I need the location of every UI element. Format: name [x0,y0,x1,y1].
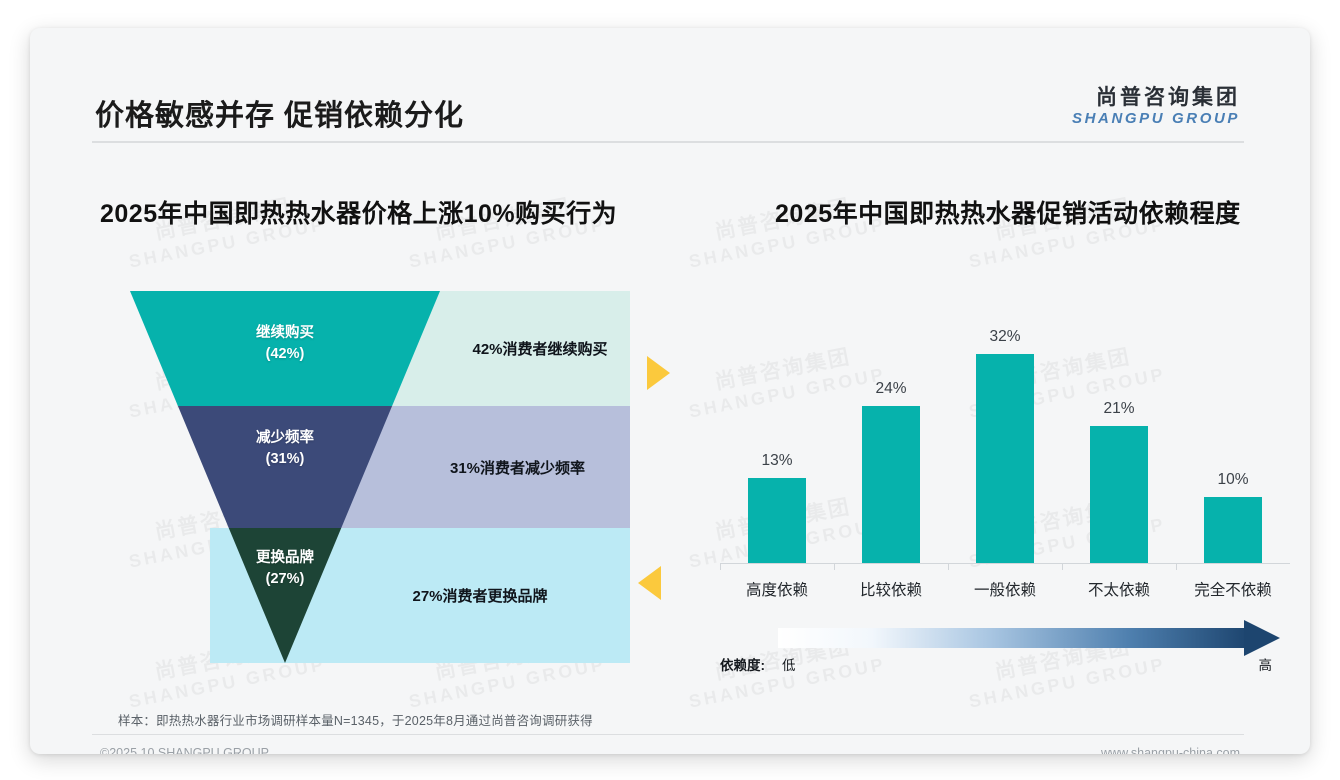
page-title: 价格敏感并存 促销依赖分化 [95,92,464,134]
sample-footnote: 样本：即热热水器行业市场调研样本量N=1345，于2025年8月通过尚普咨询调研… [118,710,593,729]
bar-category-label: 高度依赖 [722,578,832,600]
funnel-segment-label: 更换品牌(27%) [210,548,360,590]
axis-tick [834,564,835,570]
bar [862,406,920,562]
slide-card: 尚普咨询集团SHANGPU GROUP尚普咨询集团SHANGPU GROUP尚普… [30,28,1310,754]
bar [1090,426,1148,563]
legend-high-label: 高 [1259,654,1273,674]
axis-tick [1176,564,1177,570]
footer-divider [92,734,1244,735]
bar-value-label: 24% [861,380,921,398]
bar-value-label: 21% [1089,400,1149,418]
axis-tick [720,564,721,570]
bar [748,478,806,563]
copyright-text: ©2025.10 SHANGPU GROUP [100,746,269,754]
gradient-arrow-icon [720,618,1290,658]
bar-column [1204,497,1262,562]
funnel-stage-value: (31%) [266,451,305,467]
play-triangle-left-icon [638,566,661,600]
dependency-bar-chart: 13%高度依赖24%比较依赖32%一般依赖21%不太依赖10%完全不依赖 [720,278,1290,608]
x-axis-line [720,563,1290,565]
brand-logo: 尚普咨询集团 SHANGPU GROUP [1072,86,1240,128]
funnel-stage-name: 继续购买 [256,325,314,341]
funnel-stage-name: 更换品牌 [256,550,314,566]
play-triangle-right-icon [647,356,670,390]
left-chart-title: 2025年中国即热热水器价格上涨10%购买行为 [100,194,617,230]
bar-category-label: 完全不依赖 [1178,578,1288,600]
funnel-chart: 42%消费者继续购买31%消费者减少频率27%消费者更换品牌 继续购买(42%)… [30,28,670,754]
legend-title: 依赖度: [720,654,765,674]
bar [1204,497,1262,562]
header-divider [92,141,1244,143]
axis-tick [1062,564,1063,570]
funnel-stage-name: 减少频率 [256,430,314,446]
bar-column [976,354,1034,562]
bar-value-label: 13% [747,452,807,470]
bar-category-label: 不太依赖 [1064,578,1174,600]
axis-tick [948,564,949,570]
bar-column [1090,426,1148,563]
bar [976,354,1034,562]
funnel-stage-value: (27%) [266,571,305,587]
funnel-segment-label: 继续购买(42%) [210,323,360,365]
legend-low-label: 低 [782,654,796,674]
bar-value-label: 10% [1203,471,1263,489]
logo-en-text: SHANGPU GROUP [1072,110,1240,128]
bar-value-label: 32% [975,328,1035,346]
right-chart-title: 2025年中国即热热水器促销活动依赖程度 [775,194,1241,230]
logo-cn-text: 尚普咨询集团 [1072,86,1240,110]
bar-category-label: 比较依赖 [836,578,946,600]
funnel-segment-label: 减少频率(31%) [210,428,360,470]
dependency-gradient-legend: 依赖度: 低 高 [720,618,1290,678]
bar-column [862,406,920,562]
bar-column [748,478,806,563]
bar-category-label: 一般依赖 [950,578,1060,600]
website-link[interactable]: www.shangpu-china.com [1101,746,1240,754]
funnel-stage-value: (42%) [266,346,305,362]
